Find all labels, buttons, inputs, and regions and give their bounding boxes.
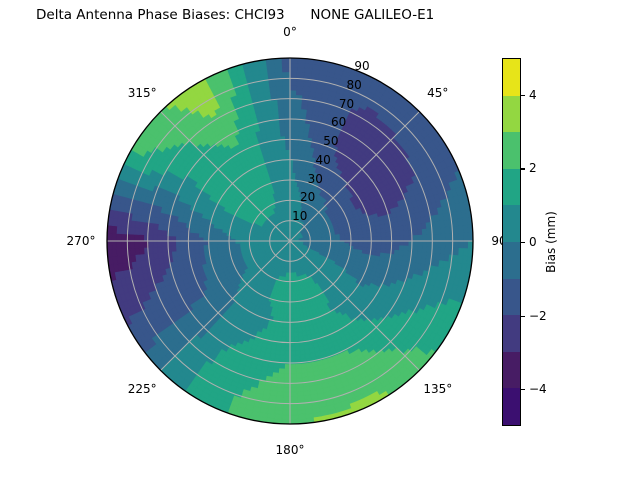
contour-cell	[459, 233, 464, 241]
contour-cell	[157, 229, 162, 235]
contour-cell	[381, 241, 386, 245]
contour-cell	[284, 369, 290, 374]
contour-cell	[409, 246, 414, 252]
contour-cell	[296, 387, 303, 392]
contour-cell	[284, 364, 290, 369]
contour-cell	[290, 364, 296, 369]
contour-cell	[290, 355, 295, 360]
contour-cell	[290, 108, 296, 113]
contour-cell	[418, 241, 423, 247]
contour-cell	[455, 241, 460, 248]
contour-cell	[189, 245, 194, 250]
contour-cell	[139, 228, 144, 235]
contour-cell	[436, 247, 441, 254]
contour-cell	[153, 241, 158, 247]
contour-cell	[290, 351, 295, 356]
contour-cell	[279, 360, 285, 365]
contour-cell	[157, 235, 162, 241]
contour-cell	[363, 238, 368, 241]
contour-cell	[290, 328, 294, 333]
contour-cell	[278, 378, 284, 383]
contour-cell	[290, 145, 294, 150]
contour-cell	[395, 236, 400, 241]
contour-cell	[464, 241, 469, 249]
contour-cell	[148, 247, 153, 253]
contour-cell	[171, 236, 176, 241]
contour-cell	[285, 346, 290, 351]
contour-cell	[404, 236, 409, 241]
contour-cell	[290, 99, 296, 104]
contour-cell	[176, 231, 181, 236]
contour-cell	[279, 364, 285, 369]
contour-cell	[399, 231, 404, 236]
contour-cell	[296, 369, 302, 374]
contour-cell	[153, 229, 158, 235]
contour-cell	[295, 350, 300, 355]
contour-cell	[418, 247, 423, 253]
contour-cell	[157, 241, 162, 247]
contour-cell	[400, 241, 405, 246]
contour-cell	[284, 374, 290, 379]
contour-cell	[290, 378, 296, 383]
contour-cell	[386, 232, 391, 237]
contour-cell	[413, 241, 418, 247]
contour-cell	[285, 360, 290, 365]
contour-cell	[189, 241, 194, 245]
contour-cell	[203, 241, 208, 245]
contour-cell	[278, 373, 284, 378]
contour-cell	[294, 328, 298, 333]
contour-cell	[283, 396, 290, 401]
contour-cell	[284, 378, 290, 383]
contour-cell	[427, 241, 432, 247]
contour-cell	[404, 231, 409, 236]
contour-cell	[445, 234, 450, 241]
contour-cell	[121, 241, 126, 248]
contour-cell	[280, 355, 285, 360]
contour-cell	[455, 234, 460, 241]
contour-cell	[180, 236, 185, 241]
contour-cell	[445, 241, 450, 248]
contour-cell	[167, 246, 172, 252]
contour-cell	[116, 233, 121, 241]
contour-cell	[404, 241, 409, 246]
contour-cell	[290, 127, 295, 132]
contour-cell	[199, 241, 204, 245]
contour-cell	[441, 241, 446, 248]
contour-cell	[294, 337, 299, 342]
contour-cell	[290, 67, 298, 72]
contour-cell	[296, 99, 302, 104]
contour-cell	[295, 113, 301, 118]
contour-cell	[404, 246, 409, 251]
contour-cell	[278, 369, 284, 374]
contour-cell	[139, 234, 144, 241]
contour-cell	[413, 235, 418, 241]
contour-cell	[290, 113, 296, 118]
contour-cell	[283, 387, 290, 392]
contour-cell	[203, 245, 208, 249]
contour-cell	[418, 235, 423, 241]
contour-cell	[294, 332, 298, 337]
contour-cell	[139, 247, 144, 254]
contour-cell	[436, 228, 441, 235]
contour-cell	[422, 247, 427, 253]
contour-cell	[162, 241, 167, 247]
contour-cell	[294, 323, 298, 328]
contour-cell	[295, 122, 300, 127]
contour-cell	[290, 104, 296, 109]
contour-cell	[377, 237, 382, 241]
contour-cell	[295, 131, 300, 136]
contour-cell	[116, 241, 121, 249]
contour-cell	[290, 90, 297, 95]
contour-cell	[423, 241, 428, 247]
contour-cell	[290, 314, 293, 319]
contour-cell	[386, 241, 391, 245]
contour-cell	[395, 231, 400, 236]
contour-cell	[372, 233, 377, 237]
contour-cell	[395, 246, 400, 251]
contour-cell	[413, 246, 418, 252]
contour-cell	[422, 229, 427, 235]
contour-cell	[290, 337, 294, 342]
contour-cell	[409, 241, 414, 246]
contour-cell	[290, 410, 298, 415]
contour-cell	[286, 332, 290, 337]
contour-cell	[290, 406, 297, 411]
contour-cell	[295, 355, 300, 360]
contour-cell	[290, 81, 297, 86]
contour-cell	[295, 360, 301, 365]
contour-cell	[176, 241, 181, 246]
contour-cell	[290, 387, 297, 392]
contour-cell	[153, 235, 158, 241]
contour-cell	[295, 346, 300, 351]
contour-cell	[290, 369, 296, 374]
contour-cell	[282, 415, 290, 420]
contour-cell	[409, 236, 414, 241]
contour-cell	[162, 230, 167, 236]
contour-cell	[441, 234, 446, 241]
contour-cell	[171, 241, 176, 246]
contour-cell	[381, 233, 386, 237]
contour-cell	[436, 241, 441, 248]
contour-cell	[277, 387, 284, 392]
contour-cell	[290, 72, 297, 77]
contour-cell	[290, 131, 295, 136]
contour-cell	[134, 234, 139, 241]
contour-cell	[286, 328, 290, 333]
contour-cell	[285, 351, 290, 356]
contour-cell	[189, 237, 194, 241]
contour-cell	[290, 122, 295, 127]
contour-cell	[395, 241, 400, 246]
contour-cell	[148, 229, 153, 235]
contour-cell	[290, 323, 294, 328]
contour-cell	[148, 241, 153, 247]
contour-cell	[436, 234, 441, 241]
contour-cell	[180, 246, 185, 251]
contour-cell	[280, 350, 285, 355]
contour-cell	[386, 237, 391, 241]
contour-cell	[153, 247, 158, 253]
contour-cell	[372, 237, 377, 241]
contour-cell	[290, 392, 297, 397]
contour-cell	[171, 231, 176, 236]
contour-cell	[180, 241, 185, 246]
contour-cell	[423, 235, 428, 241]
contour-cell	[290, 117, 295, 122]
contour-cell	[290, 332, 294, 337]
contour-cell	[171, 246, 176, 251]
contour-cell	[162, 235, 167, 241]
contour-cell	[409, 230, 414, 236]
contour-cell	[283, 392, 290, 397]
contour-cell	[194, 245, 199, 249]
contour-cell	[121, 234, 126, 241]
contour-cell	[286, 337, 290, 342]
contour-cell	[166, 241, 171, 246]
contour-cell	[130, 241, 135, 248]
contour-cell	[427, 247, 432, 253]
contour-cell	[130, 234, 135, 241]
contour-cell	[157, 247, 162, 253]
contour-cell	[296, 378, 302, 383]
contour-cell	[134, 241, 139, 248]
contour-cell	[295, 364, 301, 369]
contour-cell	[282, 410, 290, 415]
figure-canvas: Delta Antenna Phase Biases: CHCI93 NONE …	[0, 0, 640, 480]
contour-cell	[167, 230, 172, 236]
contour-cell	[112, 233, 117, 241]
contour-cell	[290, 150, 294, 155]
contour-cell	[162, 246, 167, 252]
contour-cell	[290, 85, 297, 90]
contour-cell	[377, 241, 382, 245]
contour-cell	[166, 236, 171, 241]
contour-cell	[290, 63, 298, 68]
contour-cell	[176, 246, 181, 251]
contour-cell	[148, 235, 153, 241]
contour-cell	[280, 346, 285, 351]
contour-cell	[413, 230, 418, 236]
contour-cell	[199, 237, 204, 241]
contour-cell	[180, 231, 185, 236]
contour-cell	[290, 346, 295, 351]
contour-cell	[296, 373, 302, 378]
contour-cell	[464, 233, 469, 241]
contour-cell	[400, 236, 405, 241]
contour-cell	[290, 140, 294, 145]
contour-cell	[176, 236, 181, 241]
contour-cell	[112, 241, 117, 249]
contour-cell	[381, 237, 386, 241]
contour-cell	[427, 229, 432, 235]
contour-cell	[290, 374, 296, 379]
contour-cell	[283, 406, 290, 411]
contour-cell	[212, 241, 217, 244]
contour-cell	[377, 233, 382, 237]
contour-cell	[194, 237, 199, 241]
contour-cell	[290, 360, 295, 365]
contour-cell	[295, 118, 301, 123]
contour-cell	[290, 415, 298, 420]
contour-cell	[459, 241, 464, 249]
contour-cell	[295, 127, 300, 132]
contour-cell	[139, 241, 144, 248]
contour-cell	[418, 229, 423, 235]
contour-cell	[285, 355, 290, 360]
contour-cell	[194, 241, 199, 245]
contour-cell	[399, 246, 404, 251]
contour-cell	[296, 90, 303, 95]
contour-cell	[290, 396, 297, 401]
contour-cell	[427, 235, 432, 241]
contour-cell	[296, 104, 302, 109]
contour-cell	[199, 245, 204, 249]
contour-cell	[296, 108, 302, 113]
